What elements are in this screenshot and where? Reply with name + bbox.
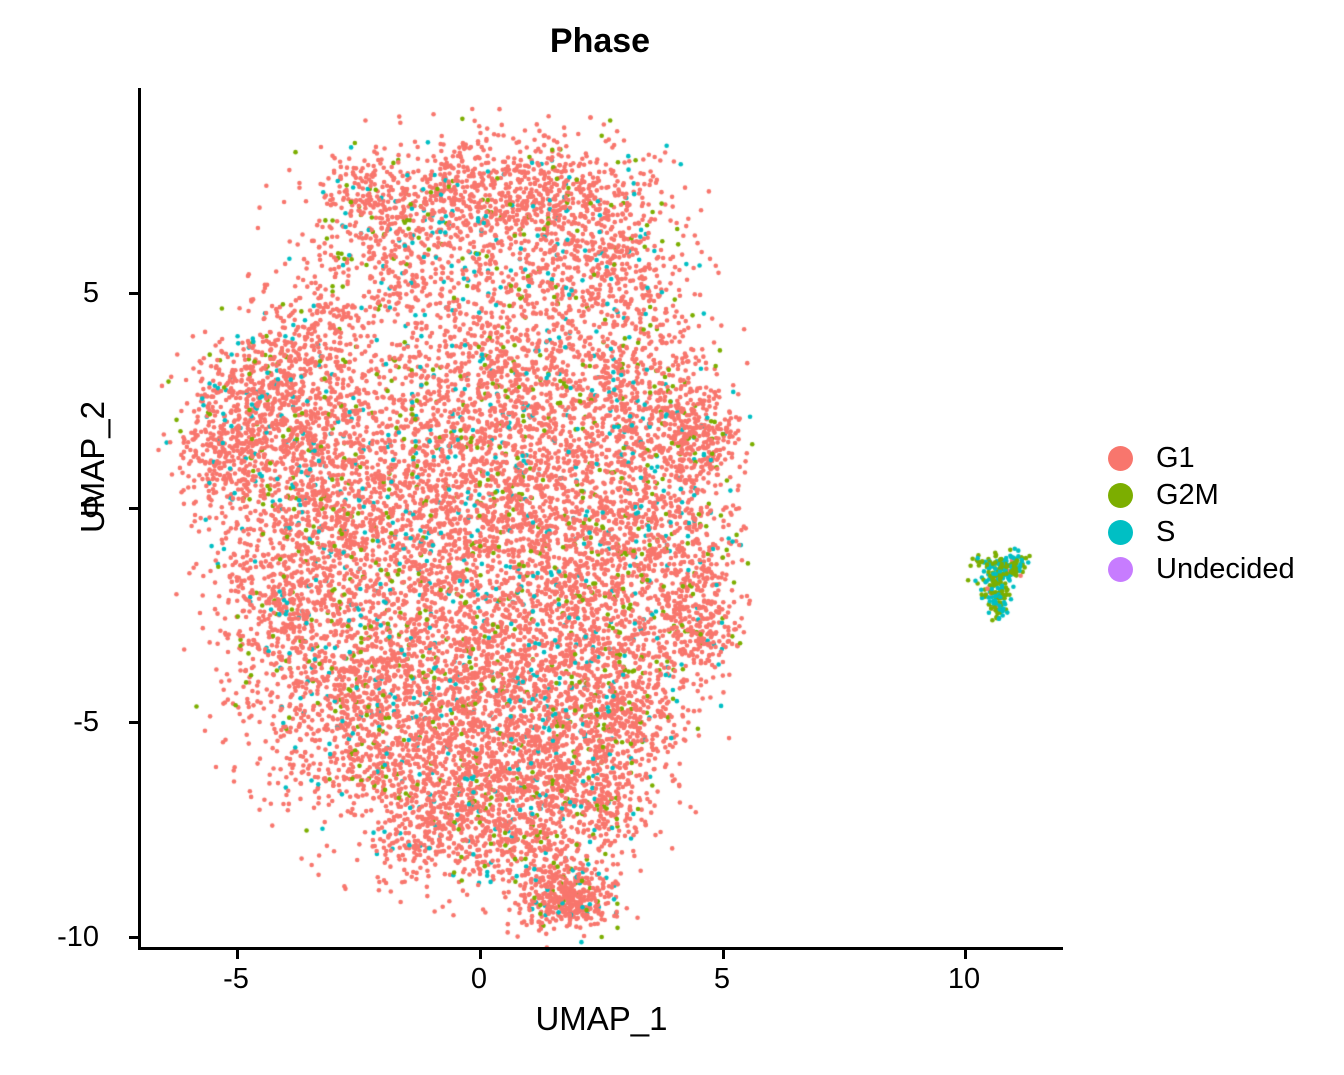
legend-swatch-icon (1100, 514, 1140, 551)
y-tick-label--10: -10 (57, 921, 99, 954)
legend-label-undecided: Undecided (1156, 555, 1295, 584)
y-axis-line (138, 88, 141, 950)
legend-swatch-icon (1100, 551, 1140, 588)
y-tick-mark--5 (129, 721, 138, 724)
y-tick-mark-0 (129, 507, 138, 510)
x-tick-mark-0 (479, 950, 482, 959)
x-tick-mark-5 (722, 950, 725, 959)
legend-swatch-icon (1100, 477, 1140, 514)
x-tick-label--5: -5 (186, 963, 286, 996)
x-tick-label-5: 5 (672, 963, 772, 996)
umap-phase-plot: Phase 5 0 -5 -10 -5 0 5 10 UMAP_1 UMAP_2… (0, 0, 1344, 1075)
legend-item-g2m[interactable]: G2M (1100, 477, 1340, 514)
plot-panel (140, 88, 1063, 949)
y-tick-label--5: -5 (73, 706, 99, 739)
x-axis-line (138, 947, 1063, 950)
legend-item-undecided[interactable]: Undecided (1100, 551, 1340, 588)
y-axis-title: UMAP_2 (74, 367, 112, 567)
y-tick-mark-5 (129, 292, 138, 295)
x-tick-label-0: 0 (429, 963, 529, 996)
legend: G1 G2M S Undecided (1100, 440, 1340, 588)
x-tick-label-10: 10 (914, 963, 1014, 996)
legend-swatch-icon (1100, 440, 1140, 477)
y-tick-mark--10 (129, 936, 138, 939)
x-axis-title: UMAP_1 (140, 1000, 1063, 1038)
page-title: Phase (0, 22, 1200, 61)
y-tick-label-5: 5 (83, 277, 99, 310)
legend-label-g1: G1 (1156, 444, 1195, 473)
x-tick-mark-10 (964, 950, 967, 959)
x-tick-mark--5 (236, 950, 239, 959)
legend-item-s[interactable]: S (1100, 514, 1340, 551)
scatter-points-layer (140, 88, 1063, 949)
legend-item-g1[interactable]: G1 (1100, 440, 1340, 477)
legend-label-g2m: G2M (1156, 481, 1219, 510)
legend-label-s: S (1156, 518, 1175, 547)
